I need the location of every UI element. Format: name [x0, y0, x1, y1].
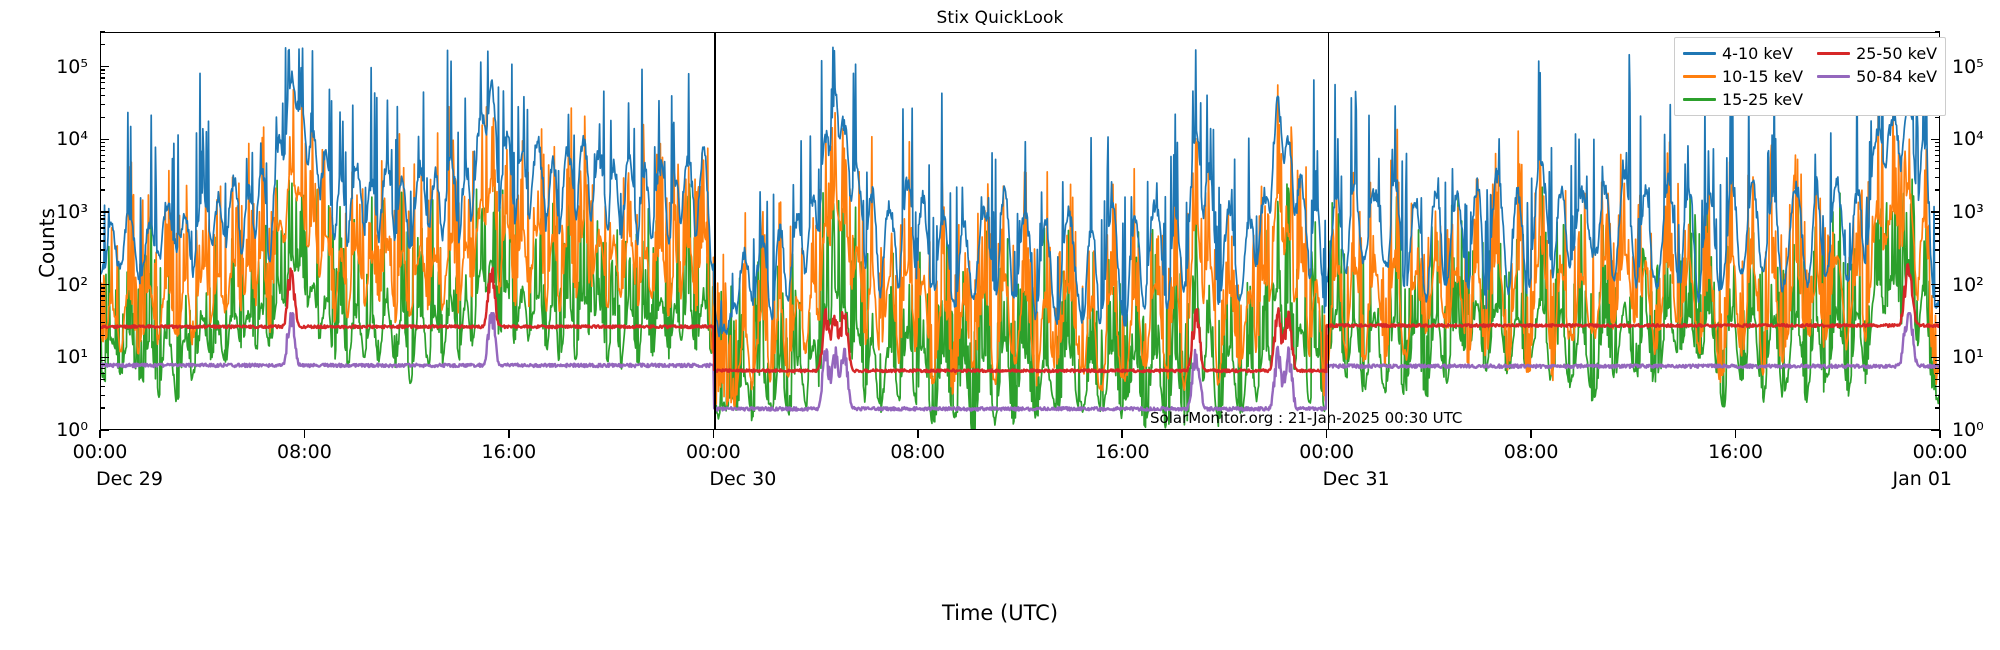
legend: 4-10 keV 10-15 keV 15-25 keV 25-50 keV 5… — [1674, 37, 1946, 116]
y-axis-minor-tick — [1935, 364, 1940, 365]
y-axis-minor-tick — [100, 300, 105, 301]
chart-title: Stix QuickLook — [0, 8, 2000, 28]
y-axis-minor-tick — [1935, 335, 1940, 336]
y-axis-tick-label-left: 10⁴ — [56, 128, 88, 150]
y-axis-minor-tick — [100, 82, 105, 83]
y-axis-minor-tick — [100, 287, 105, 288]
y-axis-minor-tick — [1935, 227, 1940, 228]
y-axis-tick-label-left: 10⁰ — [56, 419, 88, 441]
y-axis-minor-tick — [100, 31, 105, 32]
y-axis-minor-tick — [100, 335, 105, 336]
y-axis-minor-tick — [100, 313, 105, 314]
y-axis-minor-tick — [100, 218, 105, 219]
y-axis-tick-label-left: 10² — [56, 274, 88, 296]
x-axis-tick-label-time: 00:00 — [73, 441, 128, 463]
x-axis-tick-mark — [1939, 430, 1941, 438]
x-axis-label: Time (UTC) — [0, 601, 2000, 625]
y-axis-tick-label-right: 10¹ — [1952, 346, 1984, 368]
legend-label: 50-84 keV — [1856, 67, 1937, 86]
y-axis-minor-tick — [1935, 291, 1940, 292]
y-axis-minor-tick — [100, 77, 105, 78]
legend-entry[interactable]: 15-25 keV — [1683, 89, 1803, 110]
y-axis-minor-tick — [100, 407, 105, 408]
x-axis-tick-mark — [1121, 430, 1123, 438]
y-axis-minor-tick — [100, 322, 105, 323]
y-axis-tick-mark — [100, 429, 109, 431]
x-axis-tick-mark — [99, 430, 101, 438]
y-axis-minor-tick — [1935, 386, 1940, 387]
legend-column-2: 25-50 keV 50-84 keV — [1817, 43, 1937, 110]
y-axis-minor-tick — [1935, 306, 1940, 307]
y-axis-minor-tick — [100, 379, 105, 380]
y-axis-label: Counts — [35, 43, 59, 443]
legend-label: 10-15 keV — [1722, 67, 1803, 86]
legend-line-swatch-4-10kev — [1683, 52, 1716, 55]
y-axis-minor-tick — [1935, 117, 1940, 118]
legend-line-swatch-25-50kev — [1817, 52, 1850, 55]
y-axis-minor-tick — [1935, 215, 1940, 216]
y-axis-minor-tick — [100, 88, 105, 89]
y-axis-minor-tick — [1935, 300, 1940, 301]
y-axis-minor-tick — [100, 69, 105, 70]
x-axis-tick-label-date: Dec 31 — [1323, 468, 1390, 490]
y-axis-minor-tick — [100, 155, 105, 156]
y-axis-tick-mark — [100, 284, 109, 286]
y-axis-minor-tick — [100, 146, 105, 147]
y-axis-minor-tick — [1935, 142, 1940, 143]
x-axis-tick-mark — [1326, 430, 1328, 438]
y-axis-minor-tick — [100, 227, 105, 228]
y-axis-minor-tick — [1935, 233, 1940, 234]
y-axis-minor-tick — [1935, 322, 1940, 323]
y-axis-minor-tick — [1935, 223, 1940, 224]
y-axis-tick-label-right: 10⁵ — [1952, 56, 1984, 78]
legend-line-swatch-10-15kev — [1683, 75, 1716, 78]
y-axis-minor-tick — [1935, 168, 1940, 169]
x-axis-tick-label-time: 08:00 — [1504, 441, 1559, 463]
y-axis-minor-tick — [1935, 218, 1940, 219]
day-separator-dec31 — [1328, 33, 1330, 429]
y-axis-minor-tick — [1935, 379, 1940, 380]
y-axis-minor-tick — [100, 73, 105, 74]
x-axis-tick-mark — [508, 430, 510, 438]
x-axis-tick-label-time: 00:00 — [1299, 441, 1354, 463]
y-axis-minor-tick — [100, 291, 105, 292]
plot-area — [100, 32, 1940, 430]
y-axis-tick-mark — [1931, 211, 1940, 213]
y-axis-minor-tick — [1935, 146, 1940, 147]
y-axis-tick-mark — [100, 139, 109, 141]
y-axis-tick-label-right: 10² — [1952, 274, 1984, 296]
series-plot — [101, 33, 1939, 429]
y-axis-minor-tick — [1935, 373, 1940, 374]
y-axis-minor-tick — [100, 373, 105, 374]
y-axis-tick-mark — [100, 357, 109, 359]
y-axis-tick-label-right: 10⁰ — [1952, 419, 1984, 441]
y-axis-tick-label-left: 10¹ — [56, 346, 88, 368]
legend-entry[interactable]: 10-15 keV — [1683, 66, 1803, 87]
y-axis-minor-tick — [100, 249, 105, 250]
x-axis-tick-mark — [1735, 430, 1737, 438]
legend-line-swatch-50-84kev — [1817, 75, 1850, 78]
x-axis-tick-mark — [1530, 430, 1532, 438]
y-axis-minor-tick — [100, 223, 105, 224]
y-axis-tick-label-right: 10³ — [1952, 201, 1984, 223]
y-axis-tick-mark — [100, 211, 109, 213]
x-axis-tick-label-time: 00:00 — [686, 441, 741, 463]
x-axis-tick-label-time: 16:00 — [1095, 441, 1150, 463]
stix-quicklook-figure: Stix QuickLook Counts Time (UTC) 10⁰10¹1… — [0, 0, 2000, 650]
y-axis-minor-tick — [100, 262, 105, 263]
legend-label: 4-10 keV — [1722, 44, 1793, 63]
y-axis-minor-tick — [1935, 31, 1940, 32]
legend-entry[interactable]: 50-84 keV — [1817, 66, 1937, 87]
day-separator-dec30 — [714, 33, 716, 429]
y-axis-minor-tick — [100, 215, 105, 216]
y-axis-tick-label-left: 10³ — [56, 201, 88, 223]
y-axis-minor-tick — [1935, 395, 1940, 396]
x-axis-tick-label-date: Dec 30 — [709, 468, 776, 490]
x-axis-tick-label-date: Jan 01 — [1892, 468, 1952, 490]
x-axis-tick-label-time: 08:00 — [890, 441, 945, 463]
y-axis-minor-tick — [100, 44, 105, 45]
y-axis-minor-tick — [100, 168, 105, 169]
y-axis-minor-tick — [1935, 155, 1940, 156]
x-axis-tick-label-time: 16:00 — [1708, 441, 1763, 463]
x-axis-tick-label-date: Dec 29 — [96, 468, 163, 490]
y-axis-minor-tick — [100, 95, 105, 96]
x-axis-tick-mark — [713, 430, 715, 438]
x-axis-tick-label-time: 00:00 — [1913, 441, 1968, 463]
y-axis-minor-tick — [100, 233, 105, 234]
y-axis-minor-tick — [1935, 262, 1940, 263]
y-axis-minor-tick — [100, 177, 105, 178]
legend-label: 25-50 keV — [1856, 44, 1937, 63]
y-axis-minor-tick — [100, 395, 105, 396]
y-axis-minor-tick — [100, 306, 105, 307]
legend-label: 15-25 keV — [1722, 90, 1803, 109]
legend-line-swatch-15-25kev — [1683, 98, 1716, 101]
legend-entry[interactable]: 25-50 keV — [1817, 43, 1937, 64]
y-axis-minor-tick — [1935, 360, 1940, 361]
y-axis-minor-tick — [100, 104, 105, 105]
y-axis-minor-tick — [1935, 189, 1940, 190]
legend-entry[interactable]: 4-10 keV — [1683, 43, 1803, 64]
y-axis-minor-tick — [1935, 177, 1940, 178]
y-axis-tick-mark — [1931, 284, 1940, 286]
x-axis-tick-mark — [304, 430, 306, 438]
y-axis-minor-tick — [1935, 240, 1940, 241]
x-axis-tick-label-time: 08:00 — [277, 441, 332, 463]
y-axis-minor-tick — [1935, 407, 1940, 408]
legend-column-1: 4-10 keV 10-15 keV 15-25 keV — [1683, 43, 1803, 110]
y-axis-minor-tick — [1935, 150, 1940, 151]
y-axis-minor-tick — [100, 117, 105, 118]
y-axis-minor-tick — [1935, 313, 1940, 314]
y-axis-tick-label-right: 10⁴ — [1952, 128, 1984, 150]
y-axis-minor-tick — [1935, 287, 1940, 288]
y-axis-minor-tick — [100, 386, 105, 387]
y-axis-minor-tick — [100, 364, 105, 365]
y-axis-minor-tick — [1935, 368, 1940, 369]
x-axis-tick-label-time: 16:00 — [481, 441, 536, 463]
y-axis-tick-mark — [100, 66, 109, 68]
y-axis-minor-tick — [100, 142, 105, 143]
y-axis-tick-mark — [1931, 357, 1940, 359]
y-axis-tick-label-left: 10⁵ — [56, 56, 88, 78]
y-axis-minor-tick — [100, 360, 105, 361]
y-axis-minor-tick — [100, 161, 105, 162]
y-axis-minor-tick — [100, 240, 105, 241]
y-axis-minor-tick — [100, 150, 105, 151]
y-axis-minor-tick — [100, 189, 105, 190]
y-axis-minor-tick — [100, 368, 105, 369]
y-axis-minor-tick — [100, 295, 105, 296]
x-axis-tick-mark — [917, 430, 919, 438]
y-axis-tick-mark — [1931, 139, 1940, 141]
y-axis-minor-tick — [1935, 249, 1940, 250]
y-axis-minor-tick — [1935, 161, 1940, 162]
watermark-credit: SolarMonitor.org : 21-Jan-2025 00:30 UTC — [1150, 409, 1450, 427]
y-axis-minor-tick — [1935, 295, 1940, 296]
